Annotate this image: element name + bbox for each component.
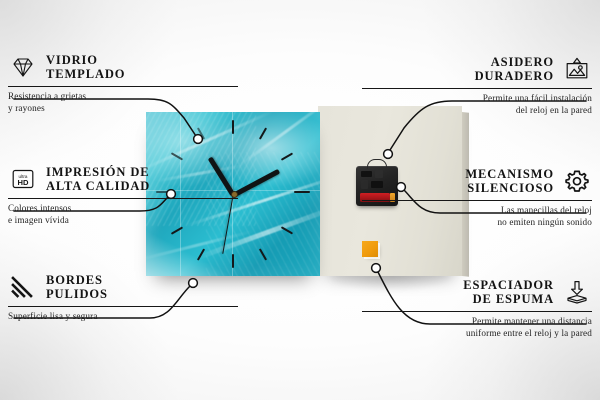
ultra-hd-icon: ultra HD [8, 164, 38, 194]
clock-tick [171, 226, 183, 234]
clock-tick [232, 120, 234, 134]
feature-header: ASIDERO DURADERO [362, 54, 592, 84]
feature-header: VIDRIO TEMPLADO [8, 52, 238, 82]
svg-text:HD: HD [18, 178, 29, 187]
feature-subtitle: Colores intensos e imagen vívida [8, 203, 238, 225]
feature-silent-mechanism[interactable]: MECANISMO SILENCIOSO Las manecillas del … [362, 166, 592, 228]
feature-subtitle: Superficie lisa y segura [8, 311, 238, 322]
feature-rule [362, 88, 592, 89]
feature-subtitle: Resistencia a grietas y rayones [8, 91, 238, 113]
feature-tempered-glass[interactable]: VIDRIO TEMPLADO Resistencia a grietas y … [8, 52, 238, 114]
feature-rule [8, 198, 238, 199]
feature-title: BORDES PULIDOS [46, 273, 108, 302]
feature-subtitle: Permite una fácil instalación del reloj … [362, 93, 592, 115]
gear-icon [562, 166, 592, 196]
feature-title: MECANISMO SILENCIOSO [465, 167, 554, 196]
feature-polished-edges[interactable]: BORDES PULIDOS Superficie lisa y segura [8, 272, 238, 323]
feature-title: ASIDERO DURADERO [475, 55, 554, 84]
feature-durable-hanger[interactable]: ASIDERO DURADERO Permite una fácil insta… [362, 54, 592, 116]
feature-title: ESPACIADOR DE ESPUMA [463, 278, 554, 307]
feature-hd-print[interactable]: ultra HD IMPRESIÓN DE ALTA CALIDAD Color… [8, 164, 238, 226]
feature-rule [8, 306, 238, 307]
foam-spacer [362, 241, 378, 257]
feature-subtitle: Las manecillas del reloj no emiten ningú… [362, 205, 592, 227]
picture-hanger-icon [562, 54, 592, 84]
feature-rule [8, 86, 238, 87]
feature-title: IMPRESIÓN DE ALTA CALIDAD [46, 165, 150, 194]
clock-tick [232, 254, 234, 268]
clock-tick [259, 127, 267, 139]
foam-spacer-icon [562, 277, 592, 307]
feature-header: BORDES PULIDOS [8, 272, 238, 302]
feature-rule [362, 200, 592, 201]
polished-edges-icon [8, 272, 38, 302]
feature-subtitle: Permite mantener una distancia uniforme … [362, 316, 592, 338]
feature-rule [362, 311, 592, 312]
feature-header: ESPACIADOR DE ESPUMA [362, 277, 592, 307]
infographic-canvas: VIDRIO TEMPLADO Resistencia a grietas y … [0, 0, 600, 400]
feature-header: MECANISMO SILENCIOSO [362, 166, 592, 196]
feature-title: VIDRIO TEMPLADO [46, 53, 125, 82]
feature-header: ultra HD IMPRESIÓN DE ALTA CALIDAD [8, 164, 238, 194]
feature-foam-spacer[interactable]: ESPACIADOR DE ESPUMA Permite mantener un… [362, 277, 592, 339]
diamond-icon [8, 52, 38, 82]
